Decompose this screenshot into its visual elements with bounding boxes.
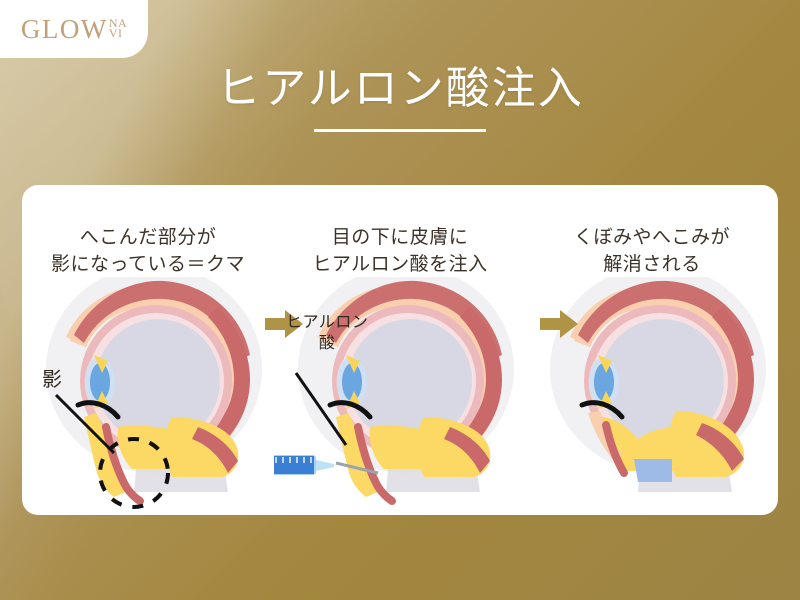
annotation-label-shadow: 影 [42, 363, 63, 392]
page-title-block: ヒアルロン酸注入 [0, 52, 800, 132]
panel-before-caption: へこんだ部分が 影になっている＝クマ [22, 225, 274, 279]
brand-logo-sub-bottom: VI [109, 28, 127, 38]
content-card: へこんだ部分が 影になっている＝クマ [22, 185, 778, 515]
annotation-label-hyaluronic-acid: ヒアルロン 酸 [286, 313, 368, 355]
title-underline-rule [314, 129, 486, 132]
panel-injection-caption: 目の下に皮膚に ヒアルロン酸を注入 [274, 225, 526, 279]
slide-canvas: GLOW NA VI ヒアルロン酸注入 へこんだ部分が 影になっている＝クマ [0, 0, 800, 600]
step-arrow-2 [540, 309, 578, 339]
panel-after-caption: くぼみやへこみが 解消される [526, 225, 778, 279]
panel-after: くぼみやへこみが 解消される [526, 185, 778, 515]
brand-logo-main-text: GLOW [21, 16, 108, 43]
panel-before: へこんだ部分が 影になっている＝クマ [22, 185, 274, 515]
brand-logo: GLOW NA VI [21, 16, 127, 43]
brand-logo-sub: NA VI [109, 18, 127, 38]
panel-row: へこんだ部分が 影になっている＝クマ [22, 185, 778, 515]
eye-cross-section-hollow-art [22, 277, 274, 515]
page-title: ヒアルロン酸注入 [0, 52, 800, 116]
brand-logo-badge: GLOW NA VI [0, 0, 148, 58]
